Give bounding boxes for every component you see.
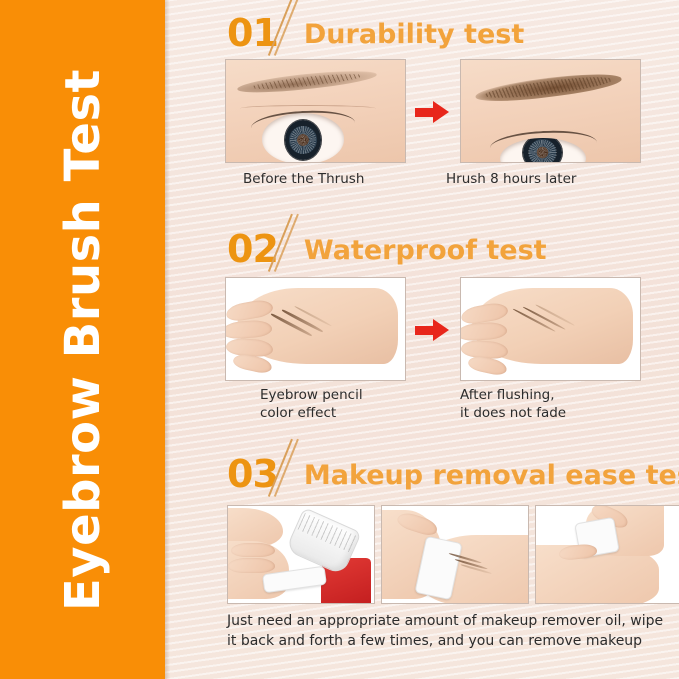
slash-divider-icon <box>278 447 308 493</box>
section-03-photo-1 <box>227 505 375 604</box>
section-01-caption-after: Hrush 8 hours later <box>446 170 576 188</box>
product-infographic-page: Eyebrow Brush Test 01 Durability test <box>0 0 679 679</box>
section-03-title: Makeup removal ease test <box>304 461 679 491</box>
section-01-header: 01 Durability test <box>227 6 524 52</box>
section-03-photo-2 <box>381 505 529 604</box>
section-01-photo-after <box>460 59 641 163</box>
slash-divider-icon <box>278 222 308 268</box>
content-column: 01 Durability test <box>165 0 679 679</box>
section-02-photo-after <box>460 277 641 381</box>
section-02-arrow-icon <box>415 319 449 341</box>
section-01-caption-before: Before the Thrush <box>243 170 364 188</box>
section-03-photo-3 <box>535 505 679 604</box>
section-02-title: Waterproof test <box>304 236 547 266</box>
vertical-title-band: Eyebrow Brush Test <box>0 0 165 679</box>
section-01-arrow-icon <box>415 101 449 123</box>
section-03-caption: Just need an appropriate amount of makeu… <box>227 611 675 651</box>
section-01-title: Durability test <box>304 20 524 50</box>
section-03-header: 03 Makeup removal ease test <box>227 447 679 493</box>
section-01-photo-before <box>225 59 406 163</box>
section-02-header: 02 Waterproof test <box>227 222 547 268</box>
section-02-photo-before <box>225 277 406 381</box>
section-02-caption-before: Eyebrow pencil color effect <box>260 386 363 422</box>
slash-divider-icon <box>278 6 308 52</box>
section-02-caption-after: After flushing, it does not fade <box>460 386 566 422</box>
vertical-title-text: Eyebrow Brush Test <box>55 68 111 610</box>
